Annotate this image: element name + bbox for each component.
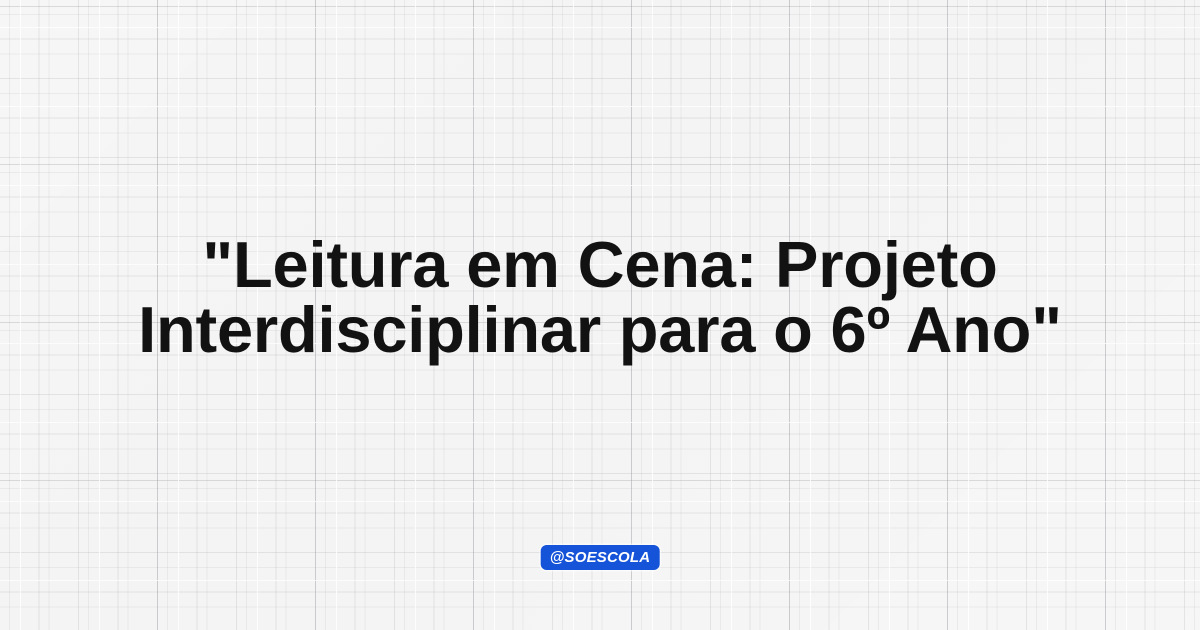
image-canvas: "Leitura em Cena: Projeto Interdisciplin… — [0, 0, 1200, 630]
page-title: "Leitura em Cena: Projeto Interdisciplin… — [40, 232, 1160, 362]
watermark-badge: @SOESCOLA — [541, 545, 660, 570]
title-block: "Leitura em Cena: Projeto Interdisciplin… — [0, 232, 1200, 362]
watermark-label: @SOESCOLA — [550, 550, 651, 565]
